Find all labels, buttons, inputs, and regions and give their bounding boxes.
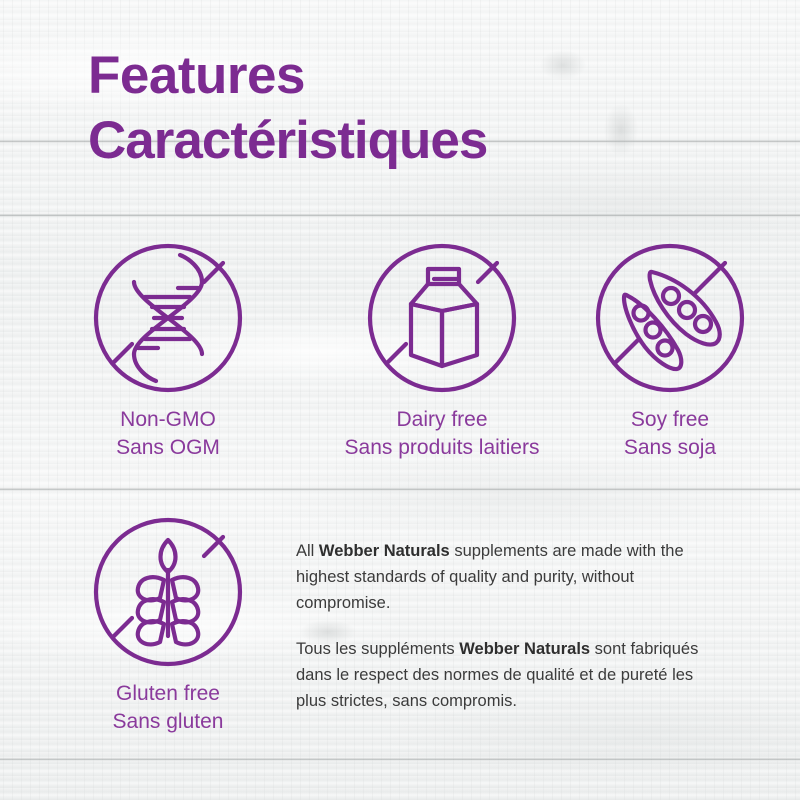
feature-soy-free: Soy free Sans soja xyxy=(578,238,762,461)
feature-gluten-free: Gluten free Sans gluten xyxy=(76,512,260,735)
feature-label-french: Sans produits laitiers xyxy=(322,434,562,462)
feature-non-gmo: Non-GMO Sans OGM xyxy=(76,238,260,461)
soy-pods-no-icon xyxy=(590,238,750,398)
body-copy: All Webber Naturals supplements are made… xyxy=(296,538,726,734)
feature-caption: Soy free Sans soja xyxy=(578,406,762,461)
feature-label-english: Soy free xyxy=(578,406,762,434)
milk-carton-no-icon xyxy=(362,238,522,398)
paragraph-fr-lead: Tous les suppléments xyxy=(296,640,459,658)
feature-label-english: Dairy free xyxy=(322,406,562,434)
feature-dairy-free: Dairy free Sans produits laitiers xyxy=(322,238,562,461)
feature-caption: Gluten free Sans gluten xyxy=(76,680,260,735)
dna-no-icon xyxy=(88,238,248,398)
brand-name-fr: Webber Naturals xyxy=(459,640,590,658)
feature-caption: Non-GMO Sans OGM xyxy=(76,406,260,461)
feature-label-english: Non-GMO xyxy=(76,406,260,434)
feature-label-french: Sans OGM xyxy=(76,434,260,462)
feature-label-english: Gluten free xyxy=(76,680,260,708)
feature-label-french: Sans soja xyxy=(578,434,762,462)
feature-caption: Dairy free Sans produits laitiers xyxy=(322,406,562,461)
paragraph-french: Tous les suppléments Webber Naturals son… xyxy=(296,636,726,714)
headline-line-english: Features xyxy=(88,44,487,109)
feature-label-french: Sans gluten xyxy=(76,708,260,736)
wheat-stalk-no-icon xyxy=(88,512,248,672)
paragraph-en-lead: All xyxy=(296,542,319,560)
brand-name-en: Webber Naturals xyxy=(319,542,450,560)
headline-line-french: Caractéristiques xyxy=(88,109,487,174)
page-title: Features Caractéristiques xyxy=(88,44,487,173)
paragraph-english: All Webber Naturals supplements are made… xyxy=(296,538,726,616)
